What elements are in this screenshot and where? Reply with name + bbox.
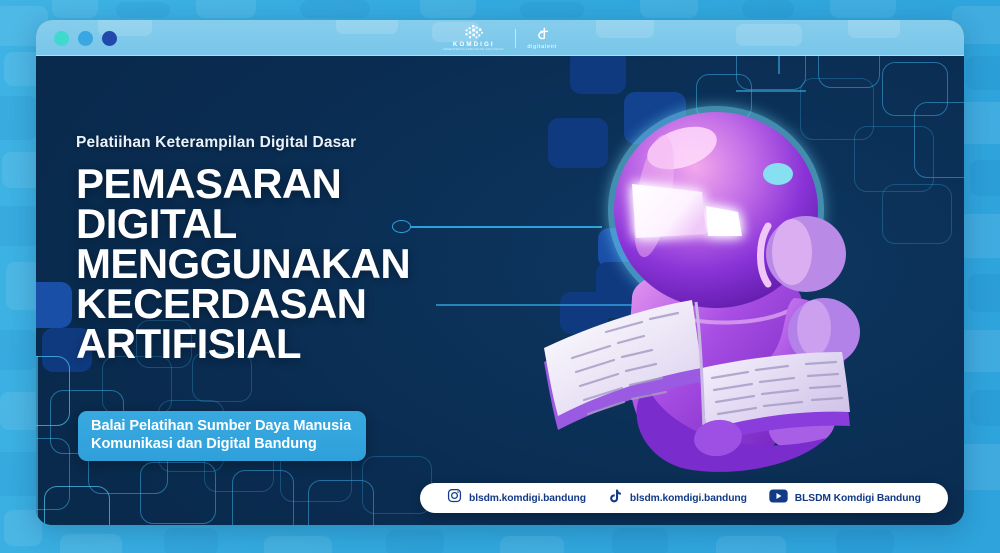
bg-block: [386, 530, 444, 553]
window-titlebar: KOMDIGI KEMENTERIAN KOMUNIKASI DAN DIGIT…: [36, 20, 964, 56]
bg-block: [196, 0, 256, 18]
circuit-block: [36, 282, 72, 328]
eyebrow-text: Pelatiihan Keterampilan Digital Dasar: [76, 134, 596, 152]
circuit-outline: [44, 486, 110, 525]
social-media-bar: blsdm.komdigi.bandung blsdm.komdigi.band…: [420, 483, 948, 513]
circuit-line: [778, 56, 780, 74]
tiktok-icon: [608, 488, 623, 509]
instagram-handle: blsdm.komdigi.bandung: [469, 493, 586, 504]
organization-banner: Balai Pelatihan Sumber Daya Manusia Komu…: [78, 411, 366, 461]
tiktok-handle: blsdm.komdigi.bandung: [630, 493, 747, 504]
youtube-handle: BLSDM Komdigi Bandung: [795, 493, 921, 504]
bg-block: [830, 0, 896, 18]
circuit-line: [36, 356, 38, 525]
banner-line-1: Balai Pelatihan Sumber Daya Manusia: [91, 418, 351, 436]
bg-block: [970, 160, 1000, 196]
headline-line-1: PEMASARAN: [76, 164, 596, 204]
bg-block: [0, 206, 40, 246]
bg-block: [60, 534, 122, 553]
social-item-tiktok[interactable]: blsdm.komdigi.bandung: [597, 488, 758, 509]
bg-block: [966, 56, 1000, 90]
bg-block: [958, 214, 1000, 258]
komdigi-mark-icon: [463, 25, 485, 39]
bg-block: [958, 444, 1000, 490]
banner-line-2: Komunikasi dan Digital Bandung: [91, 436, 351, 454]
bg-block: [500, 536, 564, 553]
headline-line-5: ARTIFISIAL: [76, 324, 596, 364]
youtube-icon: [769, 489, 788, 508]
bg-block: [520, 2, 584, 18]
bg-block: [164, 528, 218, 553]
komdigi-wordmark: KOMDIGI: [453, 41, 495, 48]
bg-block: [0, 330, 38, 370]
robot-sensor-icon: [763, 163, 793, 185]
poster-window: KOMDIGI KEMENTERIAN KOMUNIKASI DAN DIGIT…: [36, 20, 964, 525]
komdigi-tagline: KEMENTERIAN KOMUNIKASI DAN DIGITAL: [443, 48, 504, 51]
brand-lockup: KOMDIGI KEMENTERIAN KOMUNIKASI DAN DIGIT…: [36, 20, 964, 56]
bg-block: [264, 536, 332, 553]
digitalent-wordmark: digitalent: [527, 44, 556, 50]
bg-block: [52, 0, 98, 18]
bg-block: [612, 528, 668, 553]
bg-block: [640, 0, 698, 18]
bg-block: [716, 536, 786, 553]
headline-line-2: DIGITAL: [76, 204, 596, 244]
bg-block: [970, 390, 1000, 426]
instagram-icon: [447, 488, 462, 508]
headline-line-4: KECERDASAN: [76, 284, 596, 324]
bg-block: [742, 0, 794, 18]
poster-canvas: Pelatiihan Keterampilan Digital Dasar PE…: [36, 56, 964, 525]
bg-block: [300, 0, 370, 18]
social-item-instagram[interactable]: blsdm.komdigi.bandung: [436, 488, 597, 508]
headline-group: Pelatiihan Keterampilan Digital Dasar PE…: [76, 134, 596, 363]
social-item-youtube[interactable]: BLSDM Komdigi Bandung: [758, 489, 932, 508]
brand-divider: [515, 29, 516, 48]
bg-block: [420, 0, 476, 18]
bg-block: [836, 530, 894, 553]
bg-block: [116, 2, 170, 18]
bg-block: [968, 274, 1000, 312]
komdigi-logo: KOMDIGI KEMENTERIAN KOMUNIKASI DAN DIGIT…: [443, 25, 504, 51]
digitalent-logo: digitalent: [527, 27, 556, 50]
bg-block: [0, 96, 38, 140]
digitalent-mark-icon: [534, 27, 550, 42]
headline-line-3: MENGGUNAKAN: [76, 244, 596, 284]
